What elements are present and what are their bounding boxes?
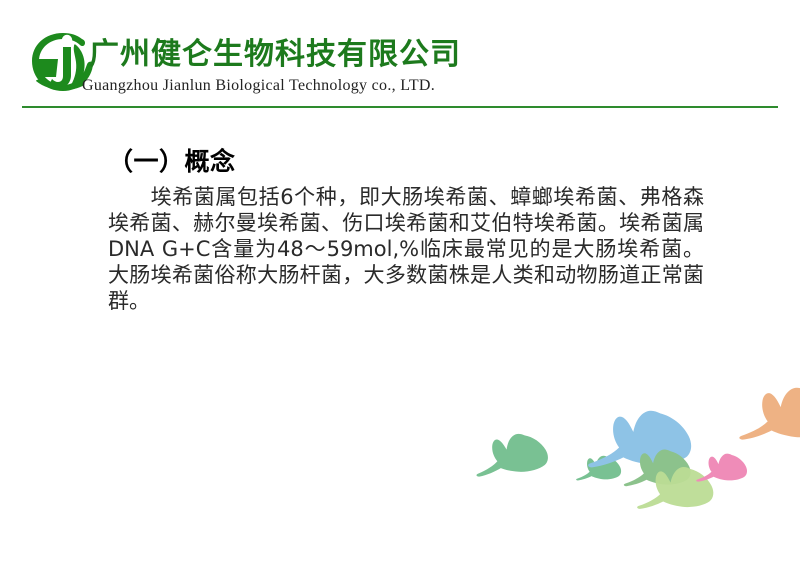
leaf-green-left xyxy=(474,432,549,477)
leaf-pink xyxy=(696,454,747,482)
section-title: （一）概念 xyxy=(108,146,708,178)
header-divider xyxy=(22,106,778,108)
company-name-cn: 广州健仑生物科技有限公司 xyxy=(89,36,461,74)
leaf-peach-large xyxy=(739,388,800,440)
slide-content: （一）概念 埃希菌属包括6个种，即大肠埃希菌、蟑螂埃希菌、弗格森埃希菌、赫尔曼埃… xyxy=(108,146,708,314)
paragraph-text: 埃希菌属包括6个种，即大肠埃希菌、蟑螂埃希菌、弗格森埃希菌、赫尔曼埃希菌、伤口埃… xyxy=(108,185,704,313)
ginkgo-leaves-decoration xyxy=(470,385,780,510)
body-paragraph: 埃希菌属包括6个种，即大肠埃希菌、蟑螂埃希菌、弗格森埃希菌、赫尔曼埃希菌、伤口埃… xyxy=(108,184,704,314)
company-name-en: Guangzhou Jianlun Biological Technology … xyxy=(82,76,435,96)
presentation-slide: 广州健仑生物科技有限公司 Guangzhou Jianlun Biologica… xyxy=(0,0,800,565)
slide-header: 广州健仑生物科技有限公司 Guangzhou Jianlun Biologica… xyxy=(0,0,800,112)
